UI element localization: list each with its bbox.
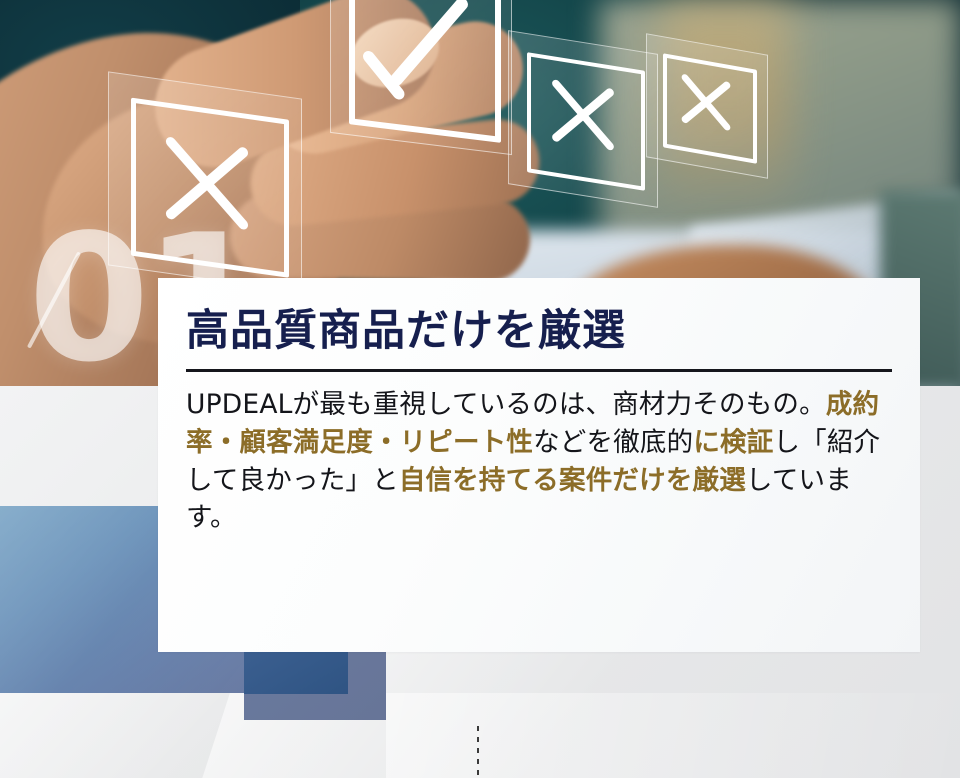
checkbox-tile-x-2 [508,30,658,208]
dotted-connector-line [477,726,479,778]
content-card-inner: 高品質商品だけを厳選 UPDEALが最も重視しているのは、商材力そのもの。成約率… [186,308,892,537]
checkbox-tile-check [330,0,512,155]
page-stage: 01 高品質商品だけを厳選 UPDEALが最も重視しているのは、商材力そのもの。… [0,0,960,778]
title-divider [186,369,892,372]
body-text-part-1: UPDEALが最も重視しているのは、商材力その [186,389,746,420]
content-card: 高品質商品だけを厳選 UPDEALが最も重視しているのは、商材力そのもの。成約率… [158,278,920,652]
body-text-part-2: もの。 [746,389,826,420]
checkbox-tile-x-3 [646,33,768,179]
page-title: 高品質商品だけを厳選 [186,308,892,355]
body-highlight-2: に検証 [693,427,773,458]
background-bottom-wash [386,693,960,778]
check-icon [331,0,511,154]
body-highlight-3: 自信を持てる [399,465,559,496]
body-text: UPDEALが最も重視しているのは、商材力そのもの。成約率・顧客満足度・リピート… [186,386,892,537]
body-highlight-4: 案件だけを厳選 [559,465,746,496]
body-paragraph: UPDEALが最も重視しているのは、商材力そのもの。成約率・顧客満足度・リピート… [186,386,892,537]
body-text-mid-1: などを徹底的 [533,427,693,458]
x-icon [509,31,657,206]
x-icon [647,34,767,177]
